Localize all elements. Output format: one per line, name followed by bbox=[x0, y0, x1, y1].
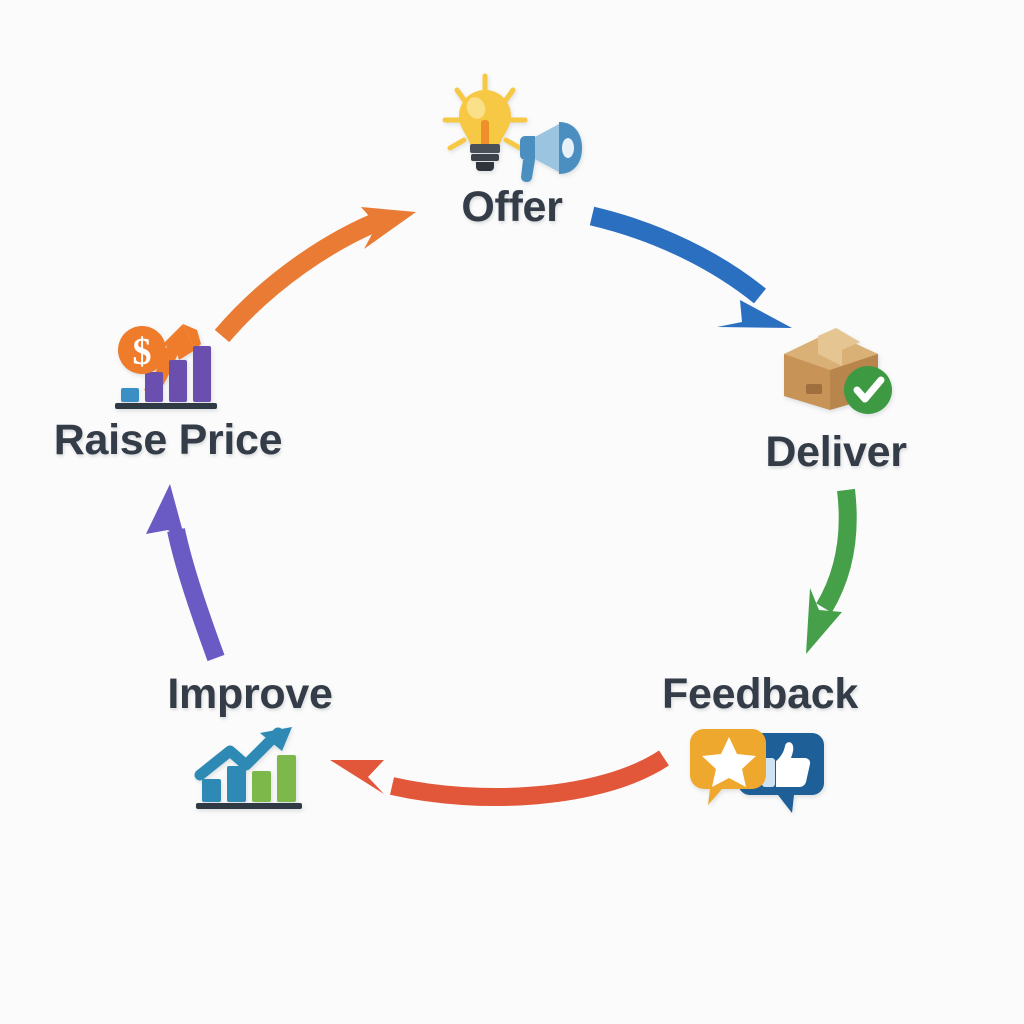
cycle-diagram-canvas: Offer Deliver bbox=[0, 0, 1024, 1024]
arrow-feedback-to-improve bbox=[330, 758, 664, 797]
svg-text:$: $ bbox=[133, 331, 152, 373]
node-raise-price[interactable]: $ Raise Price bbox=[38, 322, 298, 463]
node-offer[interactable]: Offer bbox=[382, 68, 642, 230]
node-improve-label: Improve bbox=[167, 672, 332, 717]
node-deliver[interactable]: Deliver bbox=[706, 322, 966, 475]
node-improve[interactable]: Improve bbox=[120, 672, 380, 813]
node-raise-price-label: Raise Price bbox=[54, 418, 283, 463]
growth-bar-chart-arrow-icon bbox=[190, 721, 310, 813]
arrow-offer-to-deliver bbox=[592, 216, 792, 328]
node-deliver-label: Deliver bbox=[765, 430, 906, 475]
node-offer-label: Offer bbox=[461, 185, 562, 230]
dollar-coin-rising-bars-icon: $ bbox=[109, 322, 227, 412]
lightbulb-megaphone-icon bbox=[437, 68, 587, 183]
arrow-improve-to-raise-price bbox=[146, 484, 216, 658]
node-feedback[interactable]: Feedback bbox=[630, 672, 890, 816]
arrow-deliver-to-feedback bbox=[806, 490, 848, 654]
package-box-check-icon bbox=[774, 322, 899, 422]
node-feedback-label: Feedback bbox=[662, 672, 858, 717]
star-thumbsup-speech-bubbles-icon bbox=[690, 721, 830, 816]
